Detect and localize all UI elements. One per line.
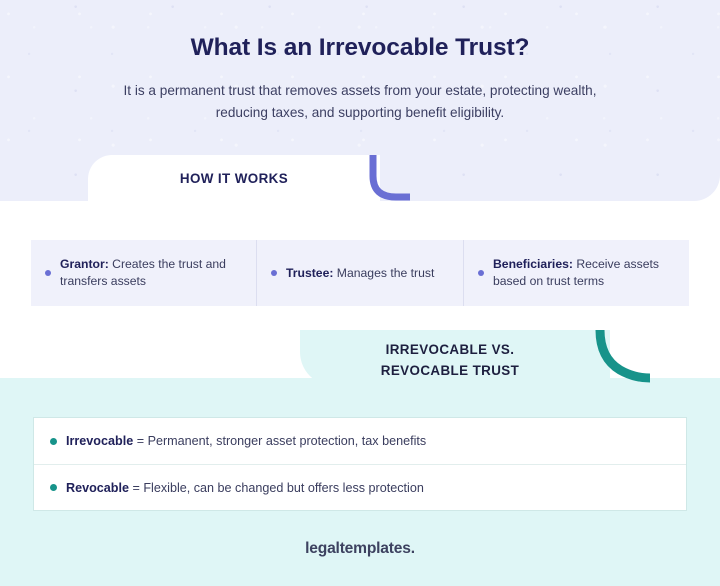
- bullet-icon: [50, 484, 57, 491]
- comparison-desc-revocable: = Flexible, can be changed but offers le…: [129, 481, 424, 495]
- role-text-grantor: Grantor: Creates the trust and transfers…: [60, 256, 242, 290]
- comparison-text-irrevocable: Irrevocable = Permanent, stronger asset …: [66, 434, 426, 448]
- comparison-row-irrevocable: Irrevocable = Permanent, stronger asset …: [34, 418, 686, 464]
- comparison-tab-line2: REVOCABLE TRUST: [381, 360, 519, 381]
- role-desc-trustee: Manages the trust: [333, 266, 434, 280]
- how-it-works-label: HOW IT WORKS: [88, 155, 380, 201]
- footer-logo: legaltemplates.: [0, 540, 720, 558]
- comparison-label-revocable: Revocable: [66, 481, 129, 495]
- teal-curve-accent: [592, 328, 654, 388]
- comparison-text-revocable: Revocable = Flexible, can be changed but…: [66, 481, 424, 495]
- role-card-grantor: Grantor: Creates the trust and transfers…: [31, 240, 256, 306]
- bullet-icon: [50, 438, 57, 445]
- page-title: What Is an Irrevocable Trust?: [0, 34, 720, 62]
- bullet-icon: [45, 270, 51, 276]
- comparison-row-revocable: Revocable = Flexible, can be changed but…: [34, 464, 686, 510]
- role-label-beneficiaries: Beneficiaries:: [493, 257, 573, 271]
- roles-card-group: Grantor: Creates the trust and transfers…: [31, 240, 689, 306]
- bullet-icon: [478, 270, 484, 276]
- page-subtitle: It is a permanent trust that removes ass…: [100, 80, 620, 124]
- role-card-beneficiaries: Beneficiaries: Receive assets based on t…: [463, 240, 689, 306]
- role-label-grantor: Grantor:: [60, 257, 109, 271]
- purple-curve-accent: [366, 152, 412, 202]
- comparison-label-irrevocable: Irrevocable: [66, 434, 133, 448]
- role-text-beneficiaries: Beneficiaries: Receive assets based on t…: [493, 256, 675, 290]
- role-label-trustee: Trustee:: [286, 266, 333, 280]
- comparison-box: Irrevocable = Permanent, stronger asset …: [33, 417, 687, 511]
- role-text-trustee: Trustee: Manages the trust: [286, 265, 434, 282]
- role-card-trustee: Trustee: Manages the trust: [256, 240, 463, 306]
- comparison-tab-label: IRREVOCABLE VS. REVOCABLE TRUST: [300, 332, 600, 388]
- infographic-root: What Is an Irrevocable Trust? It is a pe…: [0, 0, 720, 586]
- bullet-icon: [271, 270, 277, 276]
- comparison-tab-line1: IRREVOCABLE VS.: [386, 339, 515, 360]
- comparison-desc-irrevocable: = Permanent, stronger asset protection, …: [133, 434, 426, 448]
